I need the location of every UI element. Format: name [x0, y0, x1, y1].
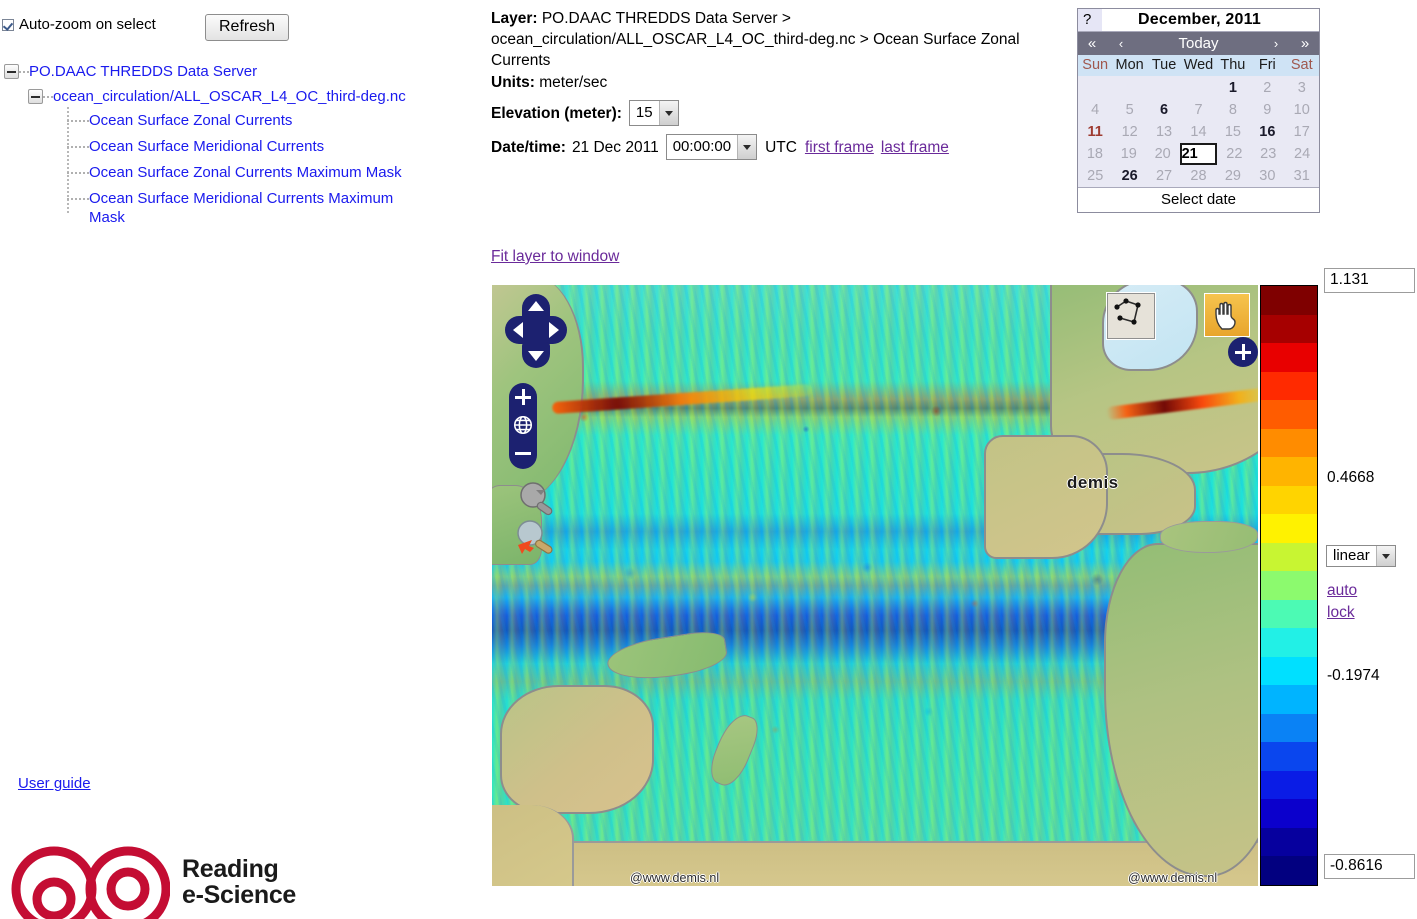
last-frame-link[interactable]: last frame: [881, 137, 949, 158]
reading-escience-logo-icon: [10, 845, 170, 919]
left-panel: Auto-zoom on select Refresh PO.DAAC THRE…: [0, 0, 480, 886]
color-scale-band: [1261, 571, 1317, 600]
auto-zoom-checkbox[interactable]: [2, 19, 14, 31]
calendar-day-cell: 27: [1147, 165, 1181, 187]
color-scale-band: [1261, 486, 1317, 515]
arrow-left-icon: [513, 322, 523, 338]
calendar-today-button[interactable]: Today: [1136, 35, 1261, 52]
calendar-day-cell[interactable]: 26: [1112, 165, 1146, 187]
calendar-day-cell[interactable]: 1: [1216, 77, 1250, 99]
add-layer-button[interactable]: [1228, 337, 1258, 367]
tree-variable-list: Ocean Surface Zonal Currents Ocean Surfa…: [62, 111, 470, 227]
calendar-empty-cell: [1112, 77, 1146, 99]
calendar-day-cell: 28: [1181, 165, 1215, 187]
tree-connector: [19, 71, 29, 74]
auto-zoom-label: Auto-zoom on select: [19, 16, 156, 33]
legend-max-input[interactable]: 1.131: [1324, 268, 1415, 293]
layer-tree: PO.DAAC THREDDS Data Server ocean_circul…: [0, 62, 470, 234]
layer-info-panel: Layer: PO.DAAC THREDDS Data Server > oce…: [491, 8, 1061, 160]
arrow-right-icon: [549, 322, 559, 338]
map-canvas[interactable]: demis @www.demis.nl @www.demis.nl: [492, 285, 1258, 886]
calendar-day-cell: 8: [1216, 99, 1250, 121]
calendar-select-date-footer[interactable]: Select date: [1078, 187, 1319, 212]
elevation-key: Elevation (meter):: [491, 103, 622, 124]
map-landmass-caribbean-arc: [1160, 521, 1258, 553]
calendar-day-cell: 4: [1078, 99, 1112, 121]
color-scale-band: [1261, 828, 1317, 857]
legend-mid-lower-label: -0.1974: [1327, 667, 1380, 685]
map-pan-control[interactable]: [505, 294, 567, 368]
map-landmass-south-asia-lower: [492, 805, 574, 886]
map-landmass-mexico-west: [984, 435, 1108, 559]
datetime-row: Date/time: 21 Dec 2011 00:00:00 UTC firs…: [491, 134, 1061, 160]
calendar-empty-cell: [1078, 77, 1112, 99]
calendar-nav-row: « ‹ Today › »: [1078, 32, 1319, 55]
color-scale-band: [1261, 543, 1317, 572]
tree-item-meridional-max-mask[interactable]: Ocean Surface Meridional Currents Maximu…: [62, 189, 470, 227]
color-scale-band: [1261, 628, 1317, 657]
pan-right-button[interactable]: [539, 316, 567, 344]
globe-icon: [512, 414, 534, 436]
layer-key: Layer:: [491, 10, 538, 27]
calendar-day-cell[interactable]: 16: [1250, 121, 1284, 143]
units-value: meter/sec: [539, 74, 607, 91]
units-key: Units:: [491, 74, 535, 91]
polygon-draw-icon: [1108, 294, 1152, 336]
day-header: Wed: [1181, 55, 1215, 76]
calendar-title-row: ? December, 2011: [1078, 9, 1319, 32]
datetime-key: Date/time:: [491, 137, 566, 158]
color-scale-band: [1261, 400, 1317, 429]
day-header: Mon: [1112, 55, 1146, 76]
map-landmass-australia: [500, 685, 654, 814]
calendar-grid: 1234567891011121314151617181920212223242…: [1078, 76, 1319, 187]
pan-down-button[interactable]: [522, 342, 550, 368]
magnifier-icon[interactable]: [518, 481, 562, 519]
calendar-week-row: 18192021222324: [1078, 143, 1319, 165]
tree-collapse-toggle-root[interactable]: [4, 64, 19, 79]
chevron-down-icon[interactable]: [659, 101, 678, 125]
auto-zoom-toggle[interactable]: Auto-zoom on select: [2, 16, 156, 33]
calendar-day-cell: 25: [1078, 165, 1112, 187]
scale-type-select[interactable]: linear: [1326, 545, 1396, 567]
calendar-empty-cell: [1147, 77, 1181, 99]
calendar-help-icon[interactable]: ?: [1078, 9, 1102, 31]
color-scale-band: [1261, 856, 1317, 885]
tree-node-dataset[interactable]: ocean_circulation/ALL_OSCAR_L4_OC_third-…: [28, 87, 470, 106]
legend-label-group: 1.131 0.4668 linear auto lock -0.1974 -0…: [1324, 268, 1417, 886]
calendar-day-cell: 15: [1216, 121, 1250, 143]
elevation-select-value: 15: [630, 101, 659, 125]
calendar-day-cell[interactable]: 21: [1180, 143, 1218, 165]
calendar-day-cell[interactable]: 11: [1078, 121, 1112, 143]
zoom-in-button[interactable]: [509, 383, 537, 411]
calendar-day-cell: 19: [1112, 143, 1146, 165]
calendar-week-row: 25262728293031: [1078, 165, 1319, 187]
tree-connector: [67, 172, 89, 175]
brand-text-block: Reading e-Science: [182, 856, 296, 908]
day-header: Thu: [1216, 55, 1250, 76]
plus-icon: [515, 389, 531, 405]
calendar-day-cell: 10: [1285, 99, 1319, 121]
scale-type-value: linear: [1327, 546, 1376, 566]
user-guide-link[interactable]: User guide: [18, 775, 91, 792]
calendar-day-cell: 12: [1112, 121, 1146, 143]
tree-item-zonal-max-mask[interactable]: Ocean Surface Zonal Currents Maximum Mas…: [62, 163, 470, 182]
scale-lock-link[interactable]: lock: [1327, 604, 1355, 622]
calendar-week-row: 45678910: [1078, 99, 1319, 121]
chevron-down-icon[interactable]: [737, 135, 756, 159]
time-select[interactable]: 00:00:00: [666, 134, 757, 160]
calendar-week-row: 123: [1078, 77, 1319, 99]
elevation-row: Elevation (meter): 15: [491, 100, 1061, 126]
calendar-day-cell: 9: [1250, 99, 1284, 121]
calendar-day-cell: 5: [1112, 99, 1146, 121]
color-scale-band: [1261, 429, 1317, 458]
legend-min-input[interactable]: -0.8616: [1324, 854, 1415, 879]
brand-logo: Reading e-Science: [10, 845, 296, 919]
calendar-day-cell: 18: [1078, 143, 1112, 165]
units-row: Units: meter/sec: [491, 72, 1061, 93]
calendar-day-cell: 29: [1216, 165, 1250, 187]
day-header: Fri: [1250, 55, 1284, 76]
layer-path-row: Layer: PO.DAAC THREDDS Data Server > oce…: [491, 8, 1061, 71]
tree-label-variable[interactable]: Ocean Surface Zonal Currents Maximum Mas…: [89, 163, 402, 182]
zoom-out-button[interactable]: [509, 439, 537, 467]
tree-label-dataset[interactable]: ocean_circulation/ALL_OSCAR_L4_OC_third-…: [53, 87, 406, 106]
calendar-next-month-button[interactable]: ›: [1261, 36, 1291, 51]
map-viewport[interactable]: demis @www.demis.nl @www.demis.nl: [492, 285, 1258, 886]
color-scale-band: [1261, 714, 1317, 743]
calendar-last-year-button[interactable]: »: [1291, 35, 1319, 52]
tree-connector: [67, 146, 89, 149]
color-scale-bar[interactable]: [1260, 285, 1318, 886]
color-scale-band: [1261, 457, 1317, 486]
map-watermark: demis: [1067, 473, 1119, 493]
tree-label-variable[interactable]: Ocean Surface Meridional Currents Maximu…: [89, 189, 424, 227]
tree-item-meridional-currents[interactable]: Ocean Surface Meridional Currents: [62, 137, 470, 156]
calendar-day-cell: 20: [1146, 143, 1180, 165]
calendar-day-cell: 13: [1147, 121, 1181, 143]
map-attribution-right: @www.demis.nl: [1128, 871, 1217, 885]
color-scale-band: [1261, 315, 1317, 344]
pan-hand-tool-button[interactable]: [1204, 293, 1250, 337]
color-scale-band: [1261, 742, 1317, 771]
polygon-draw-tool-button[interactable]: [1107, 293, 1155, 339]
refresh-button[interactable]: Refresh: [205, 14, 289, 41]
tree-node-root[interactable]: PO.DAAC THREDDS Data Server: [4, 62, 470, 81]
day-header: Sat: [1285, 55, 1319, 76]
zoom-world-button[interactable]: [509, 411, 537, 439]
hand-pan-icon: [1213, 300, 1241, 330]
day-header: Tue: [1147, 55, 1181, 76]
color-scale-band: [1261, 685, 1317, 714]
color-scale-band: [1261, 799, 1317, 828]
arrow-down-icon: [528, 351, 544, 361]
tree-connector: [67, 198, 89, 201]
calendar-day-cell: 23: [1251, 143, 1285, 165]
color-scale-band: [1261, 372, 1317, 401]
brand-line-1: Reading: [182, 856, 296, 882]
scale-auto-link[interactable]: auto: [1327, 582, 1357, 600]
calendar-first-year-button[interactable]: «: [1078, 35, 1106, 52]
drag-arrow-icon[interactable]: [514, 519, 566, 561]
minus-icon: [515, 445, 531, 461]
tree-connector: [67, 120, 89, 123]
fit-layer-to-window-link[interactable]: Fit layer to window: [491, 248, 619, 266]
calendar-day-headers: Sun Mon Tue Wed Thu Fri Sat: [1078, 55, 1319, 76]
calendar-day-cell: 17: [1285, 121, 1319, 143]
tree-label-root[interactable]: PO.DAAC THREDDS Data Server: [29, 62, 257, 81]
tree-collapse-toggle-dataset[interactable]: [28, 89, 43, 104]
arrow-up-icon: [528, 301, 544, 311]
calendar-day-cell: 3: [1285, 77, 1319, 99]
calendar-day-cell: 2: [1250, 77, 1284, 99]
map-attribution-left: @www.demis.nl: [630, 871, 719, 885]
elevation-select[interactable]: 15: [629, 100, 679, 126]
color-scale-band: [1261, 600, 1317, 629]
plus-icon: [1235, 344, 1251, 360]
calendar-day-cell: 22: [1217, 143, 1251, 165]
timezone-label: UTC: [765, 137, 797, 158]
calendar-day-cell: 14: [1181, 121, 1215, 143]
first-frame-link[interactable]: first frame: [805, 137, 874, 158]
tree-item-zonal-currents[interactable]: Ocean Surface Zonal Currents: [62, 111, 470, 130]
color-scale-band: [1261, 286, 1317, 315]
calendar-month-title: December, 2011: [1102, 9, 1319, 31]
calendar-day-cell: 31: [1285, 165, 1319, 187]
layer-path-value: PO.DAAC THREDDS Data Server > ocean_circ…: [491, 10, 1020, 69]
color-scale-band: [1261, 771, 1317, 800]
calendar-empty-cell: [1181, 77, 1215, 99]
date-value: 21 Dec 2011: [572, 137, 659, 158]
day-header: Sun: [1078, 55, 1112, 76]
calendar-day-cell: 30: [1250, 165, 1284, 187]
date-picker-calendar[interactable]: ? December, 2011 « ‹ Today › » Sun Mon T…: [1077, 8, 1320, 213]
calendar-day-cell: 7: [1181, 99, 1215, 121]
calendar-day-cell[interactable]: 6: [1147, 99, 1181, 121]
chevron-down-icon[interactable]: [1376, 546, 1395, 566]
tree-label-variable[interactable]: Ocean Surface Meridional Currents: [89, 137, 324, 156]
map-zoom-control[interactable]: [509, 383, 537, 469]
calendar-week-row: 11121314151617: [1078, 121, 1319, 143]
tree-label-variable[interactable]: Ocean Surface Zonal Currents: [89, 111, 292, 130]
color-scale-band: [1261, 343, 1317, 372]
time-select-value: 00:00:00: [667, 135, 737, 159]
calendar-day-cell: 24: [1285, 143, 1319, 165]
legend-mid-upper-label: 0.4668: [1327, 469, 1374, 487]
color-scale-band: [1261, 657, 1317, 686]
tree-connector: [43, 96, 53, 99]
color-scale-band: [1261, 514, 1317, 543]
calendar-prev-month-button[interactable]: ‹: [1106, 36, 1136, 51]
